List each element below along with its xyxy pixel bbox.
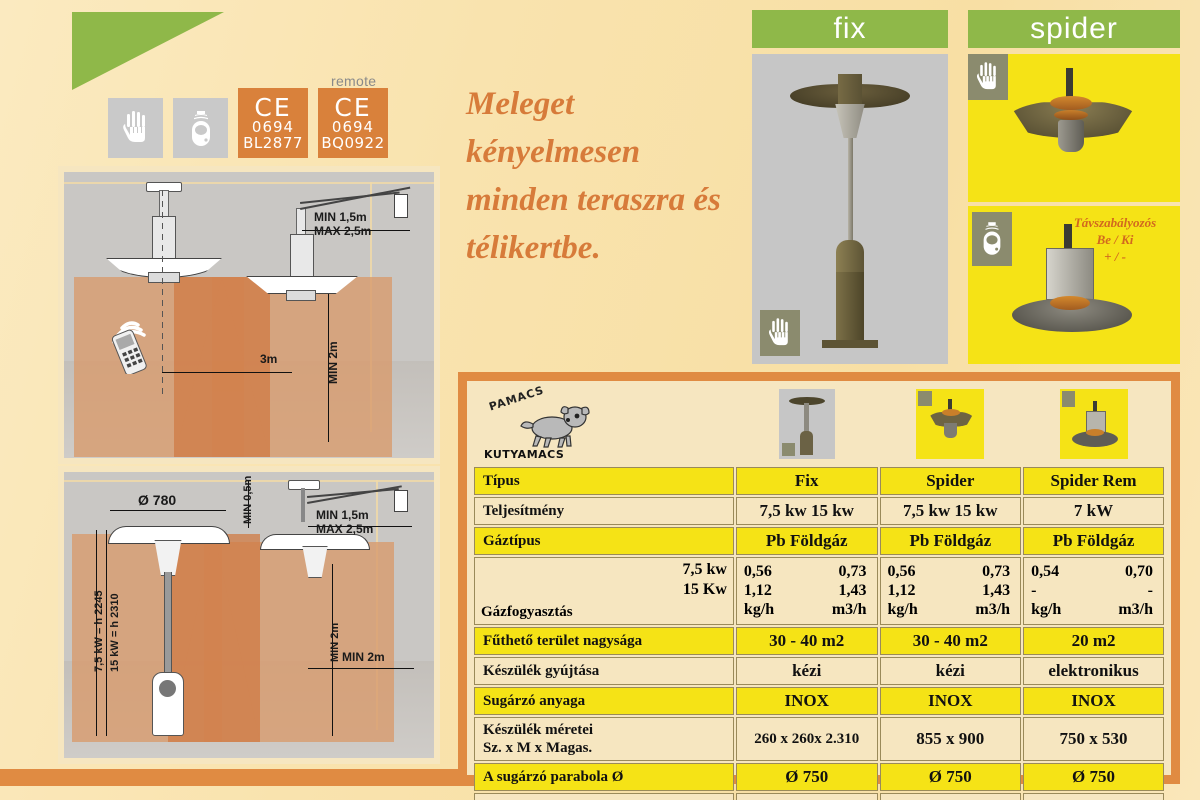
- gas-unit: m3/h: [950, 601, 1016, 619]
- gas-value: -: [1028, 582, 1093, 600]
- gas-value: 0,54: [1028, 563, 1093, 581]
- row-value-spider: Ø 750: [880, 763, 1022, 791]
- heater-base-column: [836, 272, 864, 342]
- row-value-spider: Pb Földgáz: [880, 527, 1022, 555]
- fix-patio-heater-photo: [752, 54, 948, 364]
- green-corner-triangle-decoration: [72, 12, 224, 90]
- dim-line-height-b: [106, 530, 107, 736]
- row-value-fix: INOX: [736, 687, 878, 715]
- thumbnail-cell-spider-rem: [1023, 387, 1164, 465]
- dim-min-05m-label: MIN 0,5m: [242, 476, 254, 524]
- heater-body: [152, 216, 176, 262]
- row-value-fix: 260 x 260x 2.310: [736, 717, 878, 761]
- gas-kw-label-2: 15 Kw: [682, 580, 726, 600]
- wall-mount-arm-2: [300, 192, 400, 204]
- gas-value: 1,12: [885, 582, 951, 600]
- row-label: Készülék gyújtása: [474, 657, 734, 685]
- fix-thumbnail: [779, 389, 835, 459]
- dim-max-25m-label: MAX 2,5m: [316, 522, 373, 536]
- row-value-spider: 855 x 900: [880, 717, 1022, 761]
- ceiling-mount-coverage-diagram: MIN 1,5m MAX 2,5m 3m MIN 2m: [58, 166, 440, 464]
- table-row: Típus Fix Spider Spider Rem: [474, 467, 1164, 495]
- row-value-spider-rem: Spider Rem: [1023, 467, 1164, 495]
- row-value-spider: INOX: [880, 687, 1022, 715]
- dim-3m-label: 3m: [260, 352, 277, 366]
- ce-code-text: BL2877: [243, 135, 303, 151]
- spider-rem-thumbnail: [1060, 389, 1128, 459]
- caption-line-2: Be / Ki: [1056, 231, 1174, 248]
- specification-table-frame: PAMACS: [458, 372, 1180, 784]
- row-value-spider: 8,5 kg: [880, 793, 1022, 800]
- row-label: Készülék súlya: [474, 793, 734, 800]
- remote-receiver-box: [1046, 248, 1094, 300]
- heater-pole: [848, 138, 853, 242]
- gas-unit: kg/h: [1028, 601, 1093, 619]
- heater-pole: [164, 572, 172, 680]
- remote-control-icon: [94, 300, 166, 374]
- remote-control-icon: [979, 218, 1005, 258]
- gas-value: 0,56: [885, 563, 951, 581]
- table-row: Fűthető terület nagysága 30 - 40 m2 30 -…: [474, 627, 1164, 655]
- gas-value: 0,73: [807, 563, 873, 581]
- remote-control-icon: [187, 108, 215, 148]
- dim-min-15m-label: MIN 1,5m: [316, 508, 369, 522]
- heater-burner: [834, 104, 866, 138]
- heater-neck: [838, 74, 862, 104]
- gas-value: 1,43: [807, 582, 873, 600]
- gas-values-fix: 0,56 0,73 1,12 1,43 kg/h m3/h: [736, 557, 878, 625]
- dim-15kw-height-label: 15 kW = h 2310: [109, 593, 121, 672]
- ce-mark-text: CE: [254, 96, 291, 119]
- row-value-spider: Spider: [880, 467, 1022, 495]
- drop-rod: [301, 488, 305, 522]
- gas-value: 1,12: [741, 582, 807, 600]
- row-label-dimensions: Készülék méretei Sz. x M x Magas.: [474, 717, 734, 761]
- hand-icon-badge: [968, 54, 1008, 100]
- dim-line-3m: [162, 372, 292, 373]
- ce-mark-text: CE: [334, 96, 371, 119]
- row-value-fix: 7,5 kw 15 kw: [736, 497, 878, 525]
- ce-code-text: BQ0922: [321, 135, 384, 151]
- row-label: Gázfogyasztás: [481, 604, 573, 621]
- hand-icon: [975, 62, 1001, 92]
- dog-logo-icon: PAMACS: [482, 390, 600, 462]
- gas-values-spider-rem: 0,54 0,70 - - kg/h m3/h: [1023, 557, 1164, 625]
- table-row-dimensions: Készülék méretei Sz. x M x Magas. 260 x …: [474, 717, 1164, 761]
- row-label: Teljesítmény: [474, 497, 734, 525]
- dog-illustration-icon: [518, 402, 592, 448]
- product-panel-fix: fix: [752, 10, 948, 364]
- row-value-fix: Fix: [736, 467, 878, 495]
- product-panel-spider: spider Távszabályozós Be / Ki: [968, 10, 1180, 364]
- hand-icon-badge: [760, 310, 800, 356]
- wall-mount-plate: [394, 490, 408, 512]
- spider-rem-stem: [1064, 224, 1072, 250]
- gas-unit: kg/h: [741, 601, 807, 619]
- spider-rem-burner-ring: [1050, 296, 1090, 310]
- table-row-gas-consumption: 7,5 kw 15 Kw Gázfogyasztás 0,56 0,73 1,1…: [474, 557, 1164, 625]
- page-tagline: Meleget kényelmesen minden teraszra és t…: [466, 80, 736, 272]
- remote-badge-label: remote: [331, 73, 376, 89]
- row-value-fix: 19 kg: [736, 793, 878, 800]
- panel-title-spider: spider: [968, 10, 1180, 48]
- gas-value: 0,56: [741, 563, 807, 581]
- ce-badge-2: CE 0694 BQ0922: [318, 88, 388, 158]
- gas-values-spider: 0,56 0,73 1,12 1,43 kg/h m3/h: [880, 557, 1022, 625]
- table-row: Készülék súlya 19 kg 8,5 kg 6,5 kg: [474, 793, 1164, 800]
- wall-edge-line: [64, 182, 434, 184]
- table-row: Gáztípus Pb Földgáz Pb Földgáz Pb Földgá…: [474, 527, 1164, 555]
- wall-mount-arm-2: [307, 488, 399, 498]
- heat-cone-overlap: [174, 277, 270, 457]
- row-value-fix: 30 - 40 m2: [736, 627, 878, 655]
- spider-burner-ring-2: [1054, 110, 1088, 120]
- spider-body: [1058, 120, 1084, 152]
- dim-75kw-height-label: 7,5 kW = h 2245: [93, 590, 105, 672]
- row-value-fix: Pb Földgáz: [736, 527, 878, 555]
- hand-icon: [767, 318, 793, 348]
- remote-icon-badge: [972, 212, 1012, 266]
- thumbnail-cell-spider: [880, 387, 1022, 465]
- row-value-spider: 7,5 kw 15 kw: [880, 497, 1022, 525]
- gas-kw-label-1: 7,5 kw: [682, 560, 726, 580]
- hand-icon: [121, 111, 151, 145]
- spider-thumbnail: [916, 389, 984, 459]
- caption-line-1: Távszabályozós: [1056, 214, 1174, 231]
- row-value-spider-rem: 750 x 530: [1023, 717, 1164, 761]
- row-value-spider-rem: elektronikus: [1023, 657, 1164, 685]
- dim-line-diameter: [110, 510, 226, 511]
- gas-value: -: [1094, 582, 1159, 600]
- table-row: Sugárzó anyaga INOX INOX INOX: [474, 687, 1164, 715]
- dim-min-2m-horizontal-label: MIN 2m: [342, 650, 385, 664]
- heater-base-top: [836, 240, 864, 274]
- gas-unit: m3/h: [1094, 601, 1159, 619]
- row-value-spider-rem: Ø 750: [1023, 763, 1164, 791]
- row-value-spider-rem: INOX: [1023, 687, 1164, 715]
- wall-mount-plate: [394, 194, 408, 218]
- table-header-row: PAMACS: [474, 387, 1164, 465]
- row-value-spider: kézi: [880, 657, 1022, 685]
- dimension-label-line-1: Készülék méretei: [483, 721, 725, 739]
- ce-number-text: 0694: [332, 119, 374, 135]
- gas-value: 0,70: [1094, 563, 1159, 581]
- gas-row-label-cell: 7,5 kw 15 Kw Gázfogyasztás: [474, 557, 734, 625]
- heater-foot-plate: [822, 340, 878, 348]
- certification-badges-row: CE 0694 BL2877 CE 0694 BQ0922: [108, 88, 388, 158]
- row-value-spider-rem: 6,5 kg: [1023, 793, 1164, 800]
- row-value-spider: 30 - 40 m2: [880, 627, 1022, 655]
- remote-icon-badge: [173, 98, 228, 158]
- table-row: A sugárzó parabola Ø Ø 750 Ø 750 Ø 750: [474, 763, 1164, 791]
- gas-kw-labels: 7,5 kw 15 Kw: [682, 560, 726, 600]
- row-label: A sugárzó parabola Ø: [474, 763, 734, 791]
- spider-patio-heater-photo: [968, 54, 1180, 202]
- dim-min-2m-label: MIN 2m: [326, 341, 340, 384]
- table-row: Teljesítmény 7,5 kw 15 kw 7,5 kw 15 kw 7…: [474, 497, 1164, 525]
- row-value-fix: kézi: [736, 657, 878, 685]
- dim-min-2m-vertical-label: MIN 2m: [329, 623, 341, 662]
- row-value-spider-rem: 7 kW: [1023, 497, 1164, 525]
- specification-table: PAMACS: [472, 385, 1166, 800]
- gas-value: 1,43: [950, 582, 1016, 600]
- dim-min-15m-label: MIN 1,5m: [314, 210, 367, 224]
- row-label: Fűthető terület nagysága: [474, 627, 734, 655]
- row-value-spider-rem: 20 m2: [1023, 627, 1164, 655]
- panel-title-fix: fix: [752, 10, 948, 48]
- logo-bottom-text: KUTYAMACS: [484, 448, 564, 461]
- ce-number-text: 0694: [252, 119, 294, 135]
- hand-icon-badge: [108, 98, 163, 158]
- heater-burner-2: [286, 290, 316, 301]
- poster-page: CE 0694 BL2877 CE 0694 BQ0922 remote: [0, 0, 1200, 800]
- dim-diameter-780-label: Ø 780: [138, 492, 176, 508]
- dim-max-25m-label: MAX 2,5m: [314, 224, 371, 238]
- dimension-label-line-2: Sz. x M x Magas.: [483, 739, 725, 757]
- row-value-spider-rem: Pb Földgáz: [1023, 527, 1164, 555]
- row-label: Típus: [474, 467, 734, 495]
- brand-logo-cell: PAMACS: [474, 387, 734, 465]
- table-row: Készülék gyújtása kézi kézi elektronikus: [474, 657, 1164, 685]
- gas-unit: m3/h: [807, 601, 873, 619]
- spider-remote-patio-heater-photo: Távszabályozós Be / Ki + / -: [968, 206, 1180, 364]
- row-label: Sugárzó anyaga: [474, 687, 734, 715]
- ce-badge-1: CE 0694 BL2877: [238, 88, 308, 158]
- floor-mount-dimensions-diagram: Ø 780 MIN 0,5m 7,5 kW = h 2245 15 kW = h…: [58, 466, 440, 764]
- thumbnail-cell-fix: [736, 387, 878, 465]
- row-value-fix: Ø 750: [736, 763, 878, 791]
- cylinder-valve: [159, 680, 176, 697]
- gas-unit: kg/h: [885, 601, 951, 619]
- spider-burner-ring: [1050, 96, 1092, 110]
- row-label: Gáztípus: [474, 527, 734, 555]
- heater-burner: [148, 272, 180, 283]
- gas-value: 0,73: [950, 563, 1016, 581]
- heater-body-2: [290, 234, 314, 280]
- dim-line-min2m-horizontal: [308, 668, 414, 669]
